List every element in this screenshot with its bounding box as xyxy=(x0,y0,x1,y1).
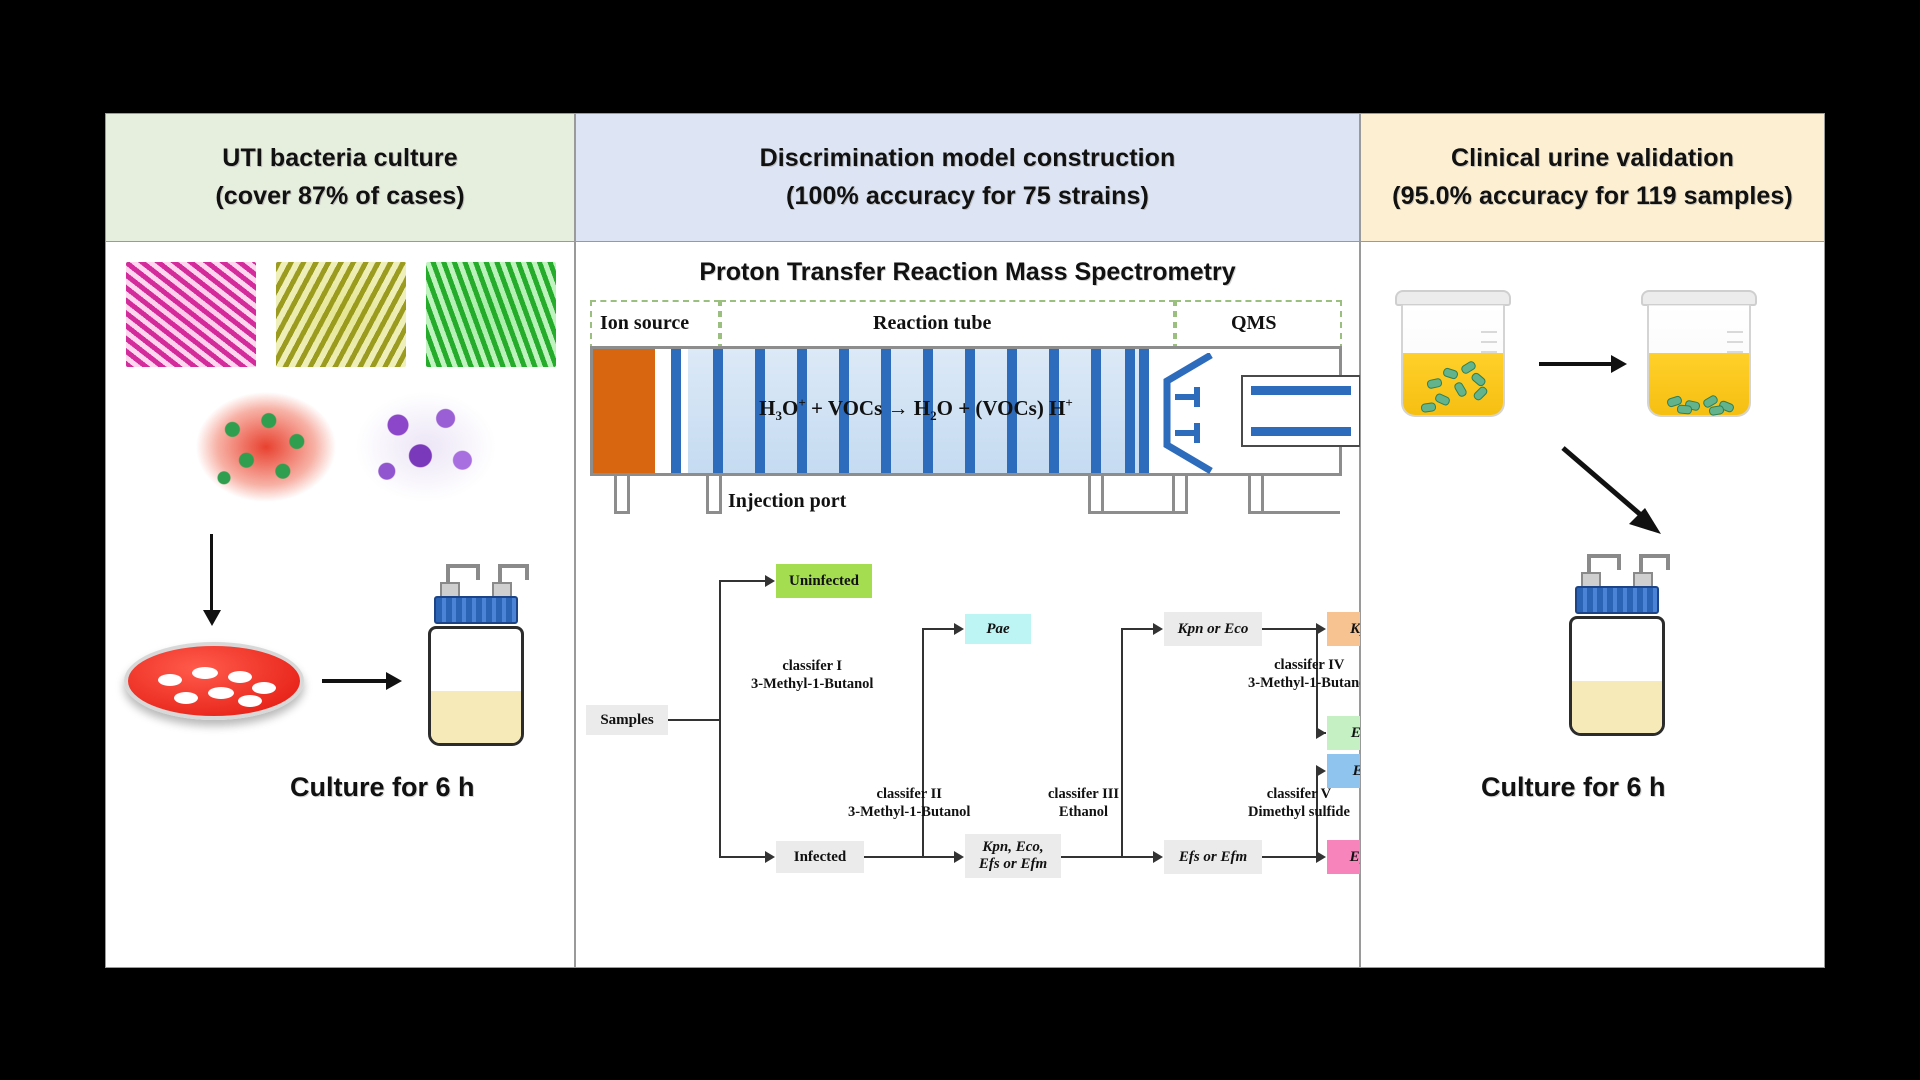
cup-lid xyxy=(1395,290,1511,306)
classifier-V-marker: Dimethyl sulfide xyxy=(1248,804,1350,820)
arrow-right-shaft-cups xyxy=(1539,362,1613,366)
figure-canvas: UTI bacteria culture (cover 87% of cases… xyxy=(0,0,1920,1080)
classifier-II-marker: 3-Methyl-1-Butanol xyxy=(848,804,970,820)
panel-right-title: Clinical urine validation xyxy=(1451,144,1734,173)
ion-lens-icon xyxy=(1153,353,1233,475)
bacterium xyxy=(1677,404,1693,414)
bottle-medium xyxy=(431,691,521,743)
classifier-I-marker: 3-Methyl-1-Butanol xyxy=(751,676,873,692)
bottle-tube-right-drop xyxy=(1666,554,1670,570)
panel-left-title: UTI bacteria culture xyxy=(222,144,457,173)
bottle-tube-right-horizontal xyxy=(498,564,528,568)
colony xyxy=(192,667,218,679)
cup-graduation xyxy=(1481,341,1497,343)
panel-right-header: Clinical urine validation (95.0% accurac… xyxy=(1361,114,1824,242)
panel-left-subtitle: (cover 87% of cases) xyxy=(215,182,464,211)
agar-surface xyxy=(124,642,304,720)
classifier-IV-label: classifer IV 3-Methyl-1-Butanol xyxy=(1248,656,1370,692)
classifier-IV-marker: 3-Methyl-1-Butanol xyxy=(1248,675,1370,691)
micrograph-olive-rod-bacteria xyxy=(276,262,406,367)
classifier-III-label: classifer III Ethanol xyxy=(1048,785,1119,821)
edge-split-classifier-I xyxy=(719,580,721,858)
label-reaction-tube: Reaction tube xyxy=(873,312,991,335)
panel-discrimination-model: Discrimination model construction (100% … xyxy=(575,113,1360,968)
edge-kpneco-to-splitIV xyxy=(1262,628,1318,630)
arrow-head-group4-icon xyxy=(954,851,964,863)
tree-node-pae[interactable]: Pae xyxy=(965,614,1031,644)
label-ion-source: Ion source xyxy=(600,312,689,335)
arrow-head-kpn-eco-icon xyxy=(1153,623,1163,635)
arrow-right-head-cups-icon xyxy=(1611,355,1627,373)
tree-node-kpn-eco-efs-efm[interactable]: Kpn, Eco,Efs or Efm xyxy=(965,834,1061,878)
edge-to-infected xyxy=(719,856,767,858)
bottle-tube-right-horizontal xyxy=(1639,554,1669,558)
edge-to-pae xyxy=(922,628,956,630)
gas-washing-bottle xyxy=(406,552,546,752)
edge-split-classifier-III xyxy=(1121,628,1123,858)
arrow-down-head-icon xyxy=(203,610,221,626)
bottle-blue-cap xyxy=(1575,586,1659,614)
group4-line2: Efs or Efm xyxy=(979,856,1047,873)
urine-liquid xyxy=(1403,353,1503,415)
edge-samples-to-split xyxy=(668,719,721,721)
quadrupole-rod-top xyxy=(1251,386,1351,395)
left-caption: Culture for 6 h xyxy=(290,772,475,803)
arrow-diagonal-icon xyxy=(1557,442,1677,547)
arrow-head-efs-icon xyxy=(1316,765,1326,777)
pump-bar xyxy=(1088,511,1188,514)
edge-group4-to-splitIII xyxy=(1061,856,1123,858)
group4-line1: Kpn, Eco, xyxy=(982,839,1043,856)
label-injection-port: Injection port xyxy=(728,490,846,513)
colony xyxy=(208,687,234,699)
arrow-head-efs-efm-icon xyxy=(1153,851,1163,863)
tree-node-infected[interactable]: Infected xyxy=(776,841,864,873)
bottle-tube-right-drop xyxy=(525,564,529,580)
bottle-medium xyxy=(1572,681,1662,733)
panel-right-body: Culture for 6 h xyxy=(1361,242,1824,967)
bottle-blue-cap xyxy=(434,596,518,624)
colony xyxy=(228,671,252,683)
panel-middle-subtitle: (100% accuracy for 75 strains) xyxy=(786,182,1149,211)
petri-dish xyxy=(124,642,304,720)
cup-graduation xyxy=(1481,331,1497,333)
bottle-tube-left-horizontal xyxy=(446,564,476,568)
panel-middle-body: Proton Transfer Reaction Mass Spectromet… xyxy=(576,242,1359,967)
instrument-title: Proton Transfer Reaction Mass Spectromet… xyxy=(576,258,1359,287)
micrograph-pink-rod-bacteria xyxy=(126,262,256,367)
quadrupole-box xyxy=(1241,375,1361,447)
ptrms-instrument: H3O+ + VOCs → H2O + (VOCs) H+ xyxy=(590,346,1342,476)
tree-node-kpn-or-eco[interactable]: Kpn or Eco xyxy=(1164,612,1262,646)
instrument-leg-injection xyxy=(706,476,722,514)
right-caption: Culture for 6 h xyxy=(1481,772,1666,803)
urine-cup-initial xyxy=(1393,290,1513,420)
panel-left-header: UTI bacteria culture (cover 87% of cases… xyxy=(106,114,574,242)
tree-node-efs-or-efm[interactable]: Efs or Efm xyxy=(1164,840,1262,874)
ion-source-block xyxy=(593,349,655,473)
cup-graduation xyxy=(1727,341,1743,343)
arrow-head-infected-icon xyxy=(765,851,775,863)
tree-node-uninfected[interactable]: Uninfected xyxy=(776,564,872,598)
drift-ring xyxy=(1139,349,1149,473)
panel-clinical-urine-validation: Clinical urine validation (95.0% accurac… xyxy=(1360,113,1825,968)
cup-graduation xyxy=(1727,331,1743,333)
classifier-III-marker: Ethanol xyxy=(1059,804,1108,820)
panel-left-body: Culture for 6 h xyxy=(106,242,574,967)
classifier-III-name: classifer III xyxy=(1048,786,1119,802)
panel-middle-header: Discrimination model construction (100% … xyxy=(576,114,1359,242)
classifier-IV-name: classifer IV xyxy=(1274,657,1344,673)
bottle-body xyxy=(1569,616,1665,736)
pump-bar xyxy=(1248,511,1340,514)
drift-ring xyxy=(671,349,681,473)
colony xyxy=(238,695,262,707)
arrow-head-uninfected-icon xyxy=(765,575,775,587)
bottle-body xyxy=(428,626,524,746)
edge-split-classifier-II xyxy=(922,628,924,858)
edge-to-kpn-eco xyxy=(1121,628,1155,630)
micrograph-red-plate-bacteria xyxy=(196,392,336,502)
panel-right-subtitle: (95.0% accuracy for 119 samples) xyxy=(1392,182,1793,211)
arrow-right-shaft xyxy=(322,679,388,683)
edge-to-efs-efm xyxy=(1121,856,1155,858)
label-qms: QMS xyxy=(1231,312,1277,335)
panel-middle-title: Discrimination model construction xyxy=(760,144,1176,173)
arrow-head-eco-icon xyxy=(1316,727,1326,739)
micrograph-green-rod-bacteria xyxy=(426,262,556,367)
arrow-head-kpn-icon xyxy=(1316,623,1326,635)
cup-lid xyxy=(1641,290,1757,306)
figure-card: UTI bacteria culture (cover 87% of cases… xyxy=(105,113,1825,968)
arrow-right-head-icon xyxy=(386,672,402,690)
colony xyxy=(174,692,198,704)
edge-efsefm-to-splitV xyxy=(1262,856,1318,858)
edge-to-uninfected xyxy=(719,580,767,582)
classifier-II-label: classifer II 3-Methyl-1-Butanol xyxy=(848,785,970,821)
classifier-II-name: classifer II xyxy=(877,786,942,802)
tree-node-samples[interactable]: Samples xyxy=(586,705,668,735)
gas-washing-bottle-validation xyxy=(1547,542,1687,742)
classifier-I-label: classifer I 3-Methyl-1-Butanol xyxy=(751,657,873,693)
edge-to-group4 xyxy=(922,856,956,858)
classifier-V-label: classifer V Dimethyl sulfide xyxy=(1248,785,1350,821)
colony xyxy=(158,674,182,686)
urine-cup-settled xyxy=(1639,290,1759,420)
instrument-leg xyxy=(1248,476,1264,514)
bottle-tube-left-drop xyxy=(1617,554,1621,570)
classifier-I-name: classifer I xyxy=(782,658,842,674)
instrument-leg xyxy=(1172,476,1188,514)
arrow-head-efm-icon xyxy=(1316,851,1326,863)
quadrupole-rod-bottom xyxy=(1251,427,1351,436)
edge-infected-to-splitII xyxy=(864,856,924,858)
instrument-leg xyxy=(1088,476,1104,514)
arrow-down-shaft xyxy=(210,534,213,612)
cup-body xyxy=(1647,305,1751,417)
bottle-tube-left-horizontal xyxy=(1587,554,1617,558)
bottle-tube-left-drop xyxy=(476,564,480,580)
panel-uti-bacteria-culture: UTI bacteria culture (cover 87% of cases… xyxy=(105,113,575,968)
colony xyxy=(252,682,276,694)
micrograph-purple-cocci-bacteria xyxy=(356,392,496,502)
cup-body xyxy=(1401,305,1505,417)
arrow-head-pae-icon xyxy=(954,623,964,635)
reaction-equation: H3O+ + VOCs → H2O + (VOCs) H+ xyxy=(701,395,1131,424)
instrument-leg xyxy=(614,476,630,514)
classifier-V-name: classifer V xyxy=(1267,786,1331,802)
